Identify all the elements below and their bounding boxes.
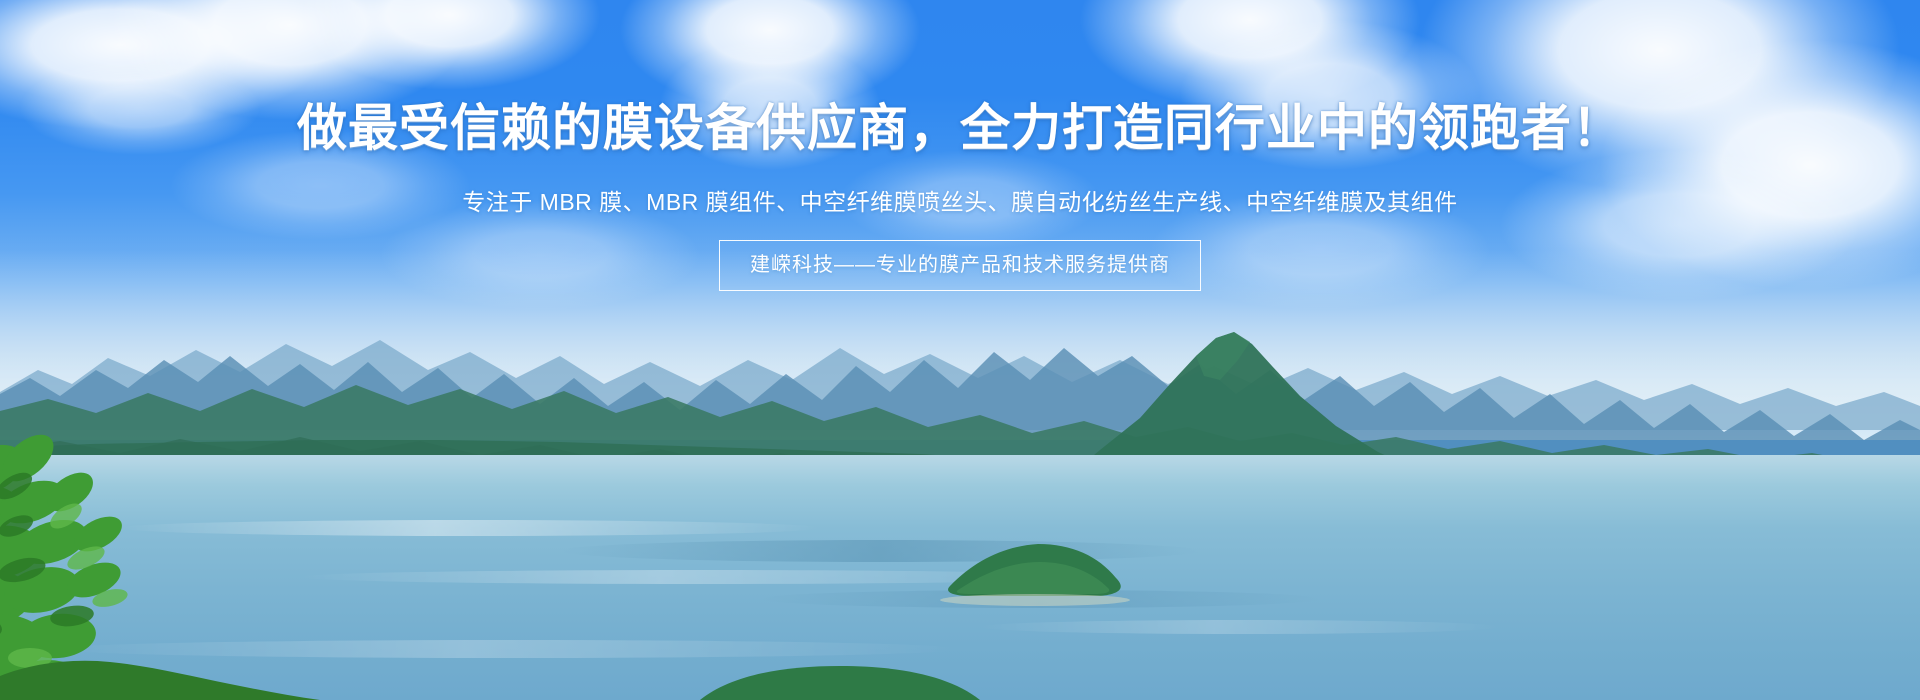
banner-headline: 做最受信赖的膜设备供应商，全力打造同行业中的领跑者！ (0, 98, 1920, 158)
banner-tagline-box: 建嵘科技——专业的膜产品和技术服务提供商 (719, 240, 1201, 291)
banner-subtitle: 专注于 MBR 膜、MBR 膜组件、中空纤维膜喷丝头、膜自动化纺丝生产线、中空纤… (0, 185, 1920, 219)
tagline-container: 建嵘科技——专业的膜产品和技术服务提供商 (0, 240, 1920, 291)
hero-banner: 做最受信赖的膜设备供应商，全力打造同行业中的领跑者！ 专注于 MBR 膜、MBR… (0, 0, 1920, 700)
banner-content: 做最受信赖的膜设备供应商，全力打造同行业中的领跑者！ 专注于 MBR 膜、MBR… (0, 0, 1920, 700)
